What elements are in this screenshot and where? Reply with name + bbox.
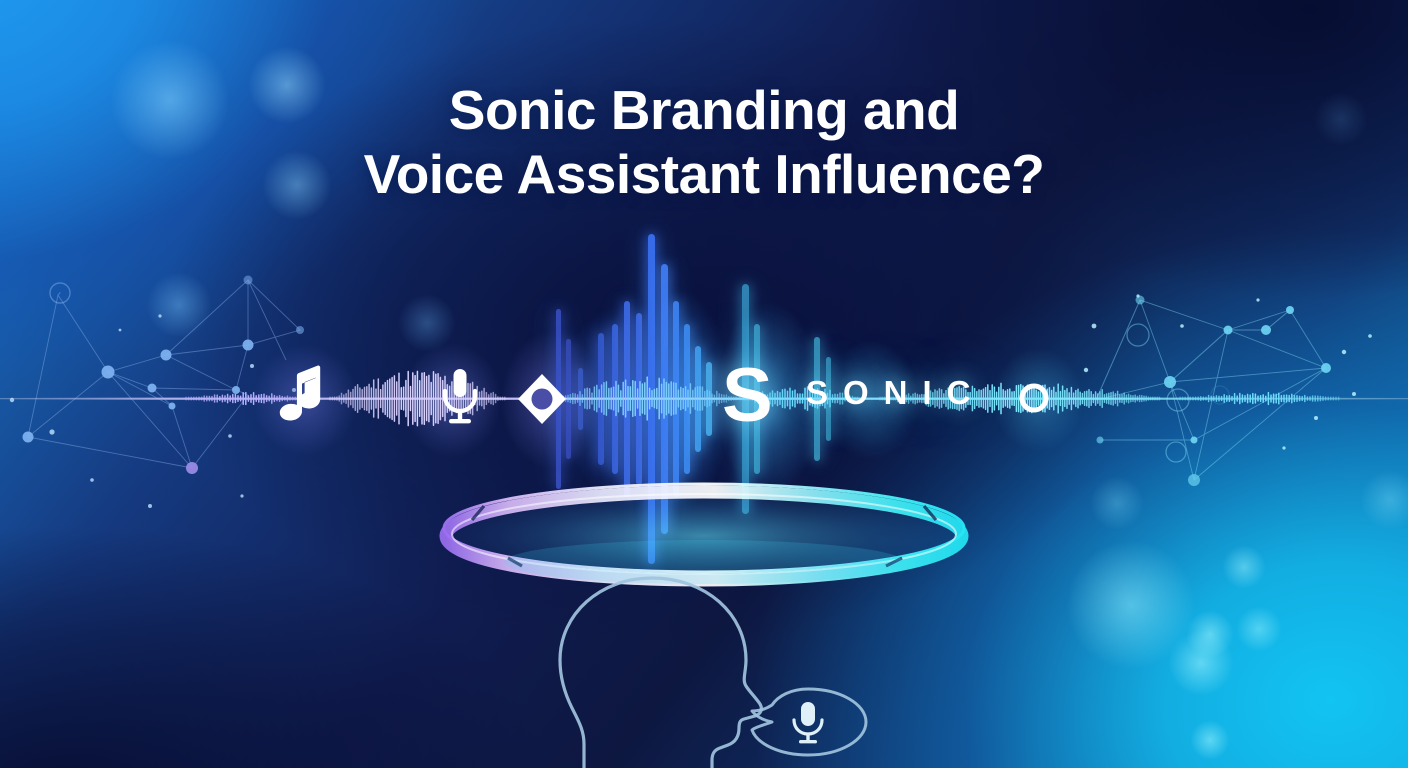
microphone-icon-bubble	[794, 702, 822, 743]
microphone-icon	[430, 362, 490, 432]
head-profile-silhouette	[556, 568, 916, 768]
ring-node-icon	[1016, 380, 1052, 416]
music-note-icon	[270, 358, 334, 432]
music-note-glyph	[279, 364, 325, 426]
hero-banner: S SONIC	[0, 0, 1408, 768]
speech-bubble	[752, 689, 866, 755]
sonic-logomark: S	[722, 358, 773, 434]
page-title: Sonic Branding and Voice Assistant Influ…	[0, 78, 1408, 206]
page-title-line-2: Voice Assistant Influence?	[0, 142, 1408, 206]
diamond-target-glyph	[516, 372, 568, 426]
diamond-target-icon	[516, 372, 568, 426]
waveform-detail	[0, 336, 1408, 464]
ring-node-glyph	[1017, 381, 1051, 415]
page-title-line-1: Sonic Branding and	[0, 78, 1408, 142]
sonic-wordmark: SONIC	[806, 374, 986, 412]
microphone-glyph	[440, 368, 480, 426]
